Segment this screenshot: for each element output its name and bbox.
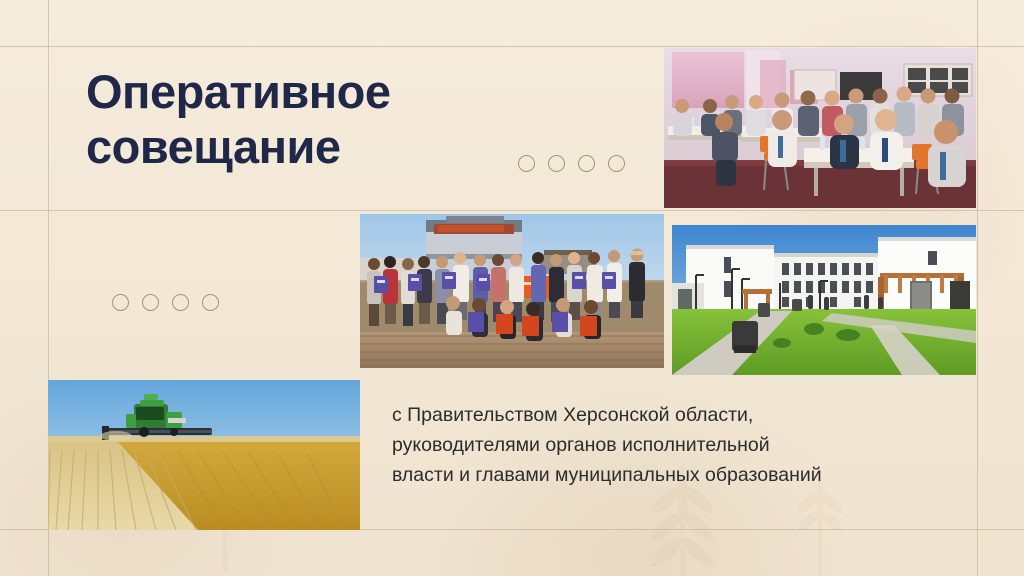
circle-icon <box>142 294 159 311</box>
circle-icon <box>202 294 219 311</box>
dot-decoration-title <box>518 155 625 172</box>
photo-campus-buildings <box>672 225 976 375</box>
photo-conference-hall <box>664 48 976 208</box>
presentation-slide: Оперативное совещание с Правительством Х… <box>0 0 1024 576</box>
grid-line-horizontal <box>0 210 1024 211</box>
circle-icon <box>578 155 595 172</box>
page-title: Оперативное совещание <box>86 64 516 175</box>
photo-youth-group <box>360 214 664 368</box>
circle-icon <box>172 294 189 311</box>
subtitle-line-2: руководителями органов исполнительной <box>392 430 972 460</box>
dot-decoration-left <box>112 294 219 311</box>
circle-icon <box>518 155 535 172</box>
subtitle-line-3: власти и главами муниципальных образован… <box>392 460 972 490</box>
circle-icon <box>608 155 625 172</box>
slide-subtitle: с Правительством Херсонской области, рук… <box>392 400 972 491</box>
subtitle-line-1: с Правительством Херсонской области, <box>392 400 972 430</box>
grid-line-vertical <box>977 0 978 576</box>
circle-icon <box>548 155 565 172</box>
title-line-1: Оперативное <box>86 64 516 119</box>
grid-line-horizontal <box>0 46 1024 47</box>
title-line-2: совещание <box>86 119 516 174</box>
circle-icon <box>112 294 129 311</box>
photo-harvester-wheat-field <box>48 380 360 530</box>
